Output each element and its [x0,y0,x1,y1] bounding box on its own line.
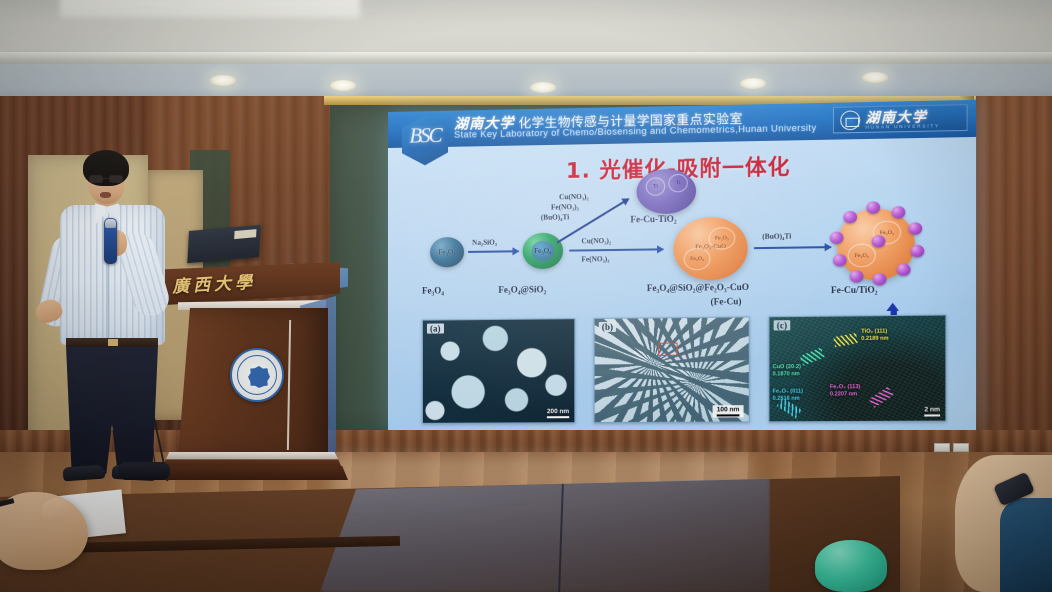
lattice-tio2-plane: TiO₂ (111) [861,328,887,334]
podium-university-name: 廣西大學 [171,268,256,298]
caption-fe3o4-sio2: Fe₃O₄@SiO₂ [498,284,546,295]
lattice-marker-fe2o3-icon [869,387,894,408]
scalebar-a-text: 200 nm [547,408,569,415]
projected-slide: BSC 湖南大学化学生物传感与计量学国家重点实验室 State Key Labo… [388,100,976,434]
branch-reagent-a: Cu(NO₃)₂ [559,193,589,202]
hunan-university-logo: 湖南大学 HUNAN UNIVERSITY [833,104,968,133]
reaction-scheme: Fe₃O₄ Na₂SiO₃ Fe₃O₄ Fe₃O₄ Fe₃O₄@SiO₂ Cu(… [388,180,976,315]
tio2-dot [892,206,906,219]
purple-inner-a: Ti [646,177,665,196]
lattice-tio2-spacing: 0.2189 nm [861,335,888,341]
caption-fecu-tio2: Fe-Cu/TiO₂ [831,284,878,295]
lattice-label-tio2: TiO₂ (111) 0.2189 nm [861,328,888,342]
particle-fe3o4-inner-label: Fe₃O₄ [430,248,464,256]
lattice-label-fe3o4: Fe₃O₄ (011) 0.2516 nm [773,388,804,402]
roi-box-icon [658,343,678,356]
reagent-step1: Na₂SiO₃ [472,238,497,246]
tem-panel-a: (a) 200 nm [422,318,575,424]
ceiling-downlight [862,72,888,83]
caption-fe-cu-tio2: Fe-Cu-TiO₂ [630,214,676,225]
ceiling-skylight [60,0,360,18]
lattice-label-cuo: CuO (20-2) 0.1870 nm [773,364,801,378]
reagent-step3: (BuO)₄Ti [762,232,791,241]
speaker-mouth [100,192,111,198]
podium-base-lower [156,466,348,480]
panel-tag-a: (a) [427,323,444,333]
scalebar-b: 100 nm [713,405,744,418]
arrow-step2 [569,248,663,251]
audience-right-torso [1000,498,1052,592]
arrow-step1 [468,250,518,253]
audience-finger [42,498,72,520]
hnu-wordmark-en: HUNAN UNIVERSITY [865,123,939,130]
tio2-dot [908,222,922,235]
speaker-shoe-left [63,465,106,482]
lattice-fe2o3-plane: Fe₂O₃ (113) [830,384,860,390]
lattice-marker-tio2-icon [833,333,857,347]
lattice-cuo-plane: CuO (20-2) [773,364,801,370]
caption-fecu-abbrev: (Fe-Cu) [711,296,742,307]
lattice-fe3o4-plane: Fe₃O₄ (011) [773,388,804,394]
bsc-logo-text: BSC [402,123,448,149]
hnu-seal-icon [840,110,860,130]
lattice-fe3o4-spacing: 0.2516 nm [773,395,800,401]
particle-fe3o4-sio2: Fe₃O₄ [523,233,564,270]
light-switch-plate[interactable] [934,443,950,452]
panel-tag-b: (b) [599,322,616,332]
scalebar-a: 200 nm [547,408,569,419]
particle-fe3o4: Fe₃O₄ [430,237,464,268]
desk-reflection [320,478,770,592]
speaker-belt [66,338,158,347]
ceiling-downlight [740,78,766,89]
foreground-shoe [118,462,170,480]
reagent-step2-b: Fe(NO₃)₃ [581,255,609,263]
fecu-inner-fe2o3: Fe₂O₃ [708,227,735,250]
caption-fecu: Fe₃O₄@SiO₂@Fe₂O₃-CuO [647,282,749,293]
lattice-label-fe2o3: Fe₂O₃ (113) 0.2207 nm [830,384,860,398]
light-switch-plate[interactable] [953,443,969,452]
purple-inner-b: Ti [668,174,688,193]
scalebar-c: 2 nm [924,406,940,417]
lattice-fe2o3-spacing: 0.2207 nm [830,391,857,397]
final-inner-fe3o4: Fe₃O₄ [848,243,876,267]
particle-fecu: Fe₂O₃ Fe₃O₄ Fe₂O₃-CuO [673,217,747,281]
tio2-dot [897,264,911,276]
speaker-glasses-icon [88,175,126,183]
microphone-icon [104,218,117,264]
ceiling-downlight [530,82,556,93]
tio2-dot [911,245,925,258]
fecu-inner-fe3o4: Fe₃O₄ [684,248,711,271]
tio2-dot [850,270,864,282]
ceiling-downlight [210,75,236,86]
panel-tag-c: (c) [774,320,791,330]
particle-sio2-inner-label: Fe₃O₄ [523,247,564,256]
green-pouch[interactable] [815,540,887,592]
tem-panel-b: (b) 100 nm [594,316,750,423]
podium-base-upper [162,452,342,468]
scalebar-b-text: 100 nm [717,406,740,413]
caption-fe3o4: Fe₃O₄ [422,285,444,295]
lattice-cuo-spacing: 0.1870 nm [773,371,800,377]
glasses-lens-left [89,175,103,183]
tio2-dot [872,235,886,247]
ceiling-downlight [330,80,356,91]
branch-reagent-b: Fe(NO₃)₃ [551,203,579,212]
reagent-step2-a: Cu(NO₃)₂ [581,237,611,245]
laptop-on-podium[interactable] [187,225,260,264]
glasses-lens-right [109,175,123,183]
particle-fe-cu-tio2: Ti Ti [637,169,697,215]
lecture-hall-photo: BSC 湖南大学化学生物传感与计量学国家重点实验室 State Key Labo… [0,0,1052,592]
lattice-marker-cuo-icon [800,348,825,366]
scalebar-c-text: 2 nm [924,406,940,413]
guangxi-university-seal-icon [230,348,284,402]
branch-reagent-c: (BuO)₄Ti [541,213,569,221]
microscopy-panel-row: (a) 200 nm (b) 100 nm (c) TiO₂ (111) 0.2… [422,315,946,424]
hrtem-panel-c: (c) TiO₂ (111) 0.2189 nm CuO (20-2) 0.18… [768,315,946,423]
arrow-step3 [754,246,831,249]
